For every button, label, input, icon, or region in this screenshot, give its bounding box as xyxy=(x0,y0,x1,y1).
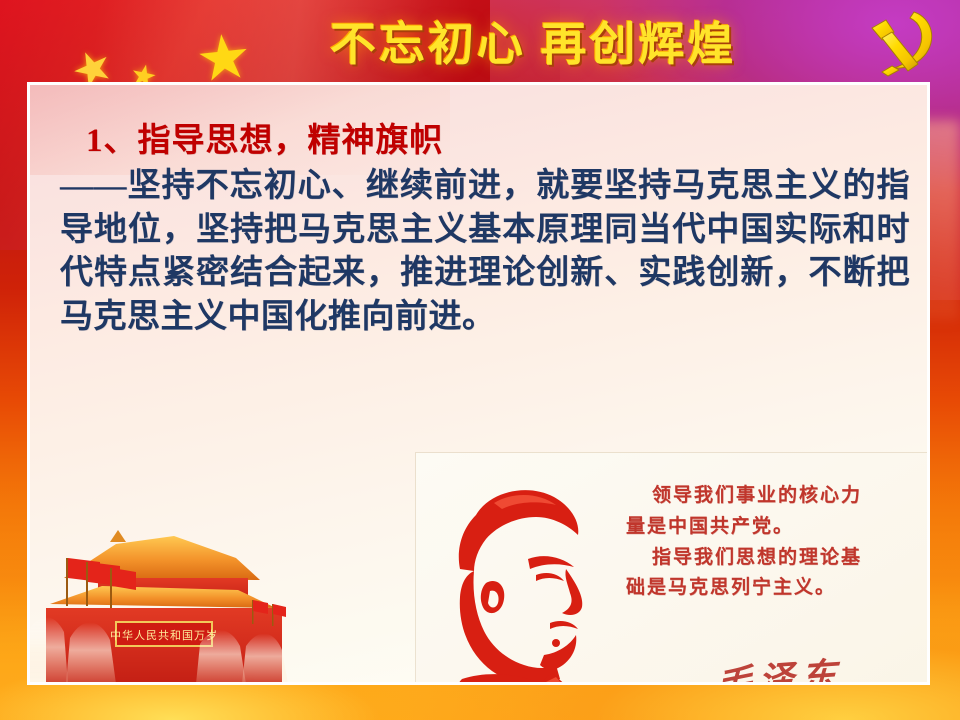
mao-quote-text: 领导我们事业的核心力 量是中国共产党。 指导我们思想的理论基 础是马克思列宁主义… xyxy=(626,481,926,604)
text-block: 1、指导思想，精神旗帜 ——坚持不忘初心、继续前进，就要坚持马克思主义的指导地位… xyxy=(60,113,910,339)
mao-quote-image: 领导我们事业的核心力 量是中国共产党。 指导我们思想的理论基 础是马克思列宁主义… xyxy=(416,453,930,685)
mao-zedong-portrait-icon xyxy=(432,473,617,685)
quote-line-1: 领导我们事业的核心力 xyxy=(626,481,926,512)
quote-line-4: 础是马克思列宁主义。 xyxy=(626,573,926,604)
body-paragraph: ——坚持不忘初心、继续前进，就要坚持马克思主义的指导地位，坚持把马克思主义基本原… xyxy=(60,165,910,339)
quote-line-3: 指导我们思想的理论基 xyxy=(626,543,926,574)
section-heading: 1、指导思想，精神旗帜 xyxy=(86,113,910,161)
content-panel: 中华人民共和国万岁 xyxy=(27,82,930,685)
tiananmen-banner-text: 中华人民共和国万岁 xyxy=(110,628,218,642)
title-bar: 不忘初心 再创辉煌 xyxy=(330,8,850,74)
slide-root: ★ ★ ★ 不忘初心 再创辉煌 xyxy=(0,0,960,720)
mao-signature: 毛泽东 xyxy=(715,646,843,685)
hammer-and-sickle-emblem-icon xyxy=(852,2,948,80)
tiananmen-gate-illustration: 中华人民共和国万岁 xyxy=(27,504,324,684)
quote-line-2: 量是中国共产党。 xyxy=(626,512,926,543)
slide-title: 不忘初心 再创辉煌 xyxy=(330,8,737,74)
